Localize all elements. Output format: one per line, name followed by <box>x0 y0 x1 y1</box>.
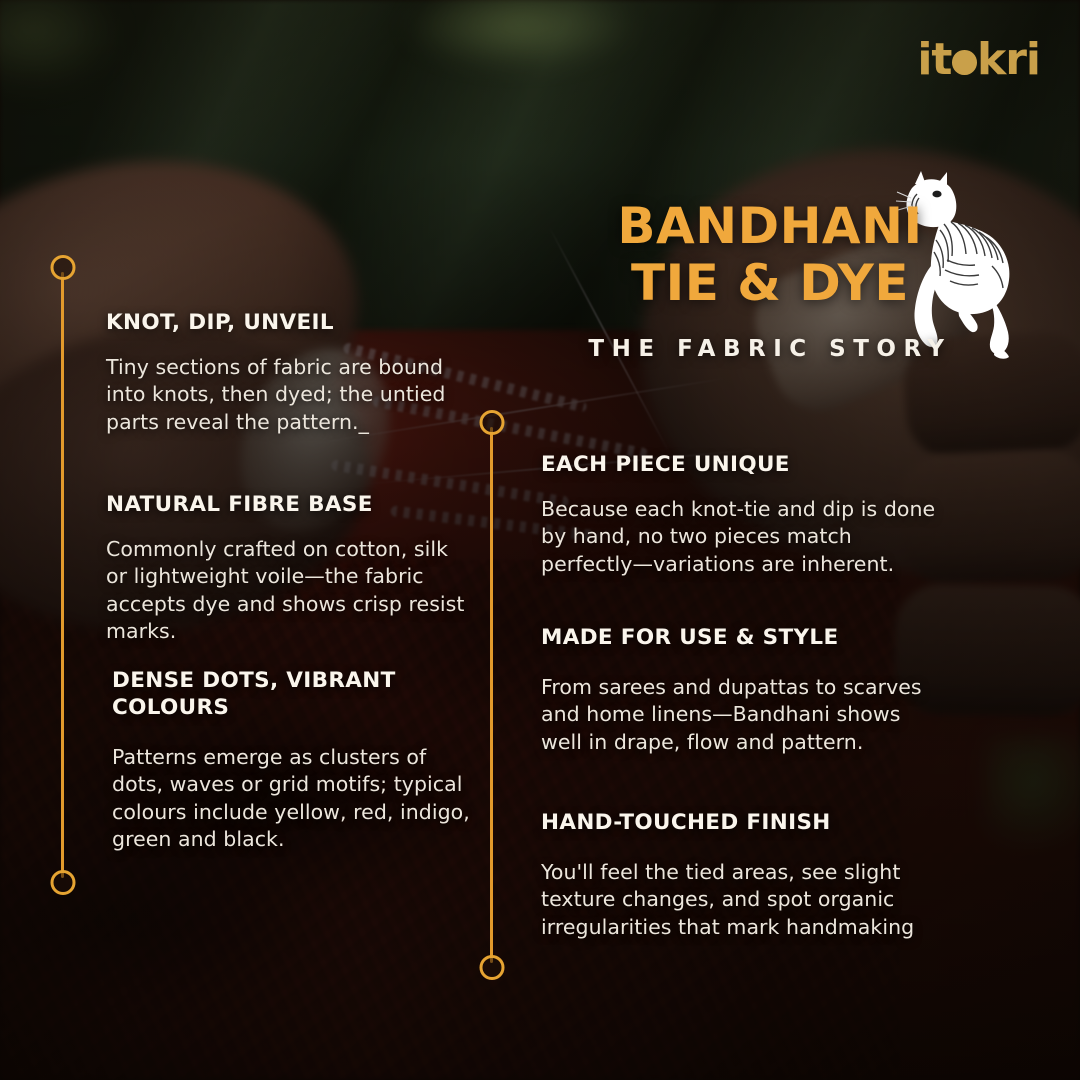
block-heading: DENSE DOTS, VIBRANT COLOURS <box>112 668 480 722</box>
logo-circle-icon <box>952 50 977 75</box>
block-heading: EACH PIECE UNIQUE <box>541 452 945 479</box>
block-heading: KNOT, DIP, UNVEIL <box>106 310 472 337</box>
itokri-logo[interactable]: itkri <box>917 38 1040 82</box>
block-body: Because each knot-tie and dip is done by… <box>541 496 945 578</box>
logo-text-post: kri <box>977 34 1040 85</box>
subtitle: THE FABRIC STORY <box>560 336 980 362</box>
headline-group: BANDHANI TIE & DYE THE FABRIC STORY <box>560 200 980 362</box>
timeline-rail-right <box>490 427 493 963</box>
info-block-natural-fibre-base: NATURAL FIBRE BASE Commonly crafted on c… <box>106 492 472 646</box>
block-body: From sarees and dupattas to scarves and … <box>541 674 945 756</box>
info-block-hand-touched-finish: HAND-TOUCHED FINISH You'll feel the tied… <box>541 810 945 941</box>
title-line-1: BANDHANI <box>560 200 980 253</box>
infographic-poster: itkri <box>0 0 1080 1080</box>
block-body: Commonly crafted on cotton, silk or ligh… <box>106 536 472 646</box>
info-block-dense-dots-vibrant-colours: DENSE DOTS, VIBRANT COLOURS Patterns eme… <box>112 668 480 854</box>
block-body: Patterns emerge as clusters of dots, wav… <box>112 744 480 854</box>
info-block-knot-dip-unveil: KNOT, DIP, UNVEIL Tiny sections of fabri… <box>106 310 472 436</box>
title-line-2: TIE & DYE <box>560 257 980 310</box>
block-heading: NATURAL FIBRE BASE <box>106 492 472 519</box>
block-heading: HAND-TOUCHED FINISH <box>541 810 945 837</box>
block-heading: MADE FOR USE & STYLE <box>541 625 945 652</box>
block-body: Tiny sections of fabric are bound into k… <box>106 354 472 436</box>
info-block-each-piece-unique: EACH PIECE UNIQUE Because each knot-tie … <box>541 452 945 578</box>
info-block-made-for-use-style: MADE FOR USE & STYLE From sarees and dup… <box>541 625 945 756</box>
logo-text-pre: it <box>917 34 951 85</box>
block-body: You'll feel the tied areas, see slight t… <box>541 859 945 941</box>
timeline-rail-left <box>61 272 64 878</box>
